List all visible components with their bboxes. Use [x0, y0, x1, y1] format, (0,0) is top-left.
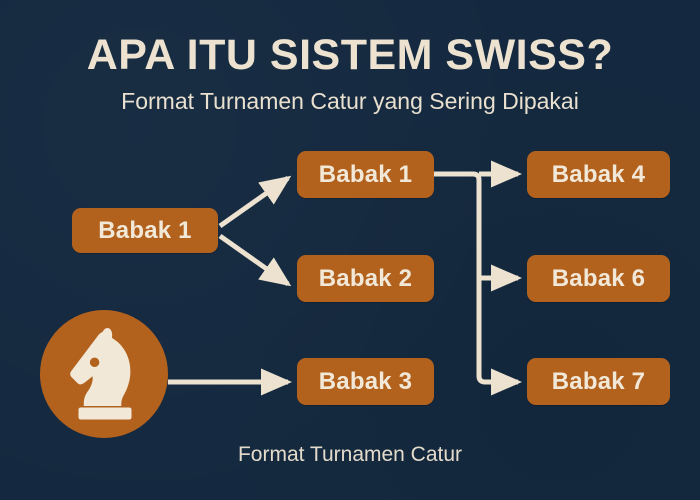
flow-node-out4[interactable]: Babak 4	[527, 151, 670, 198]
flow-node-root[interactable]: Babak 1	[72, 208, 218, 253]
flow-node-out7[interactable]: Babak 7	[527, 358, 670, 405]
chess-knight-icon	[58, 326, 150, 422]
chess-knight-badge	[40, 310, 168, 438]
flow-node-out6[interactable]: Babak 6	[527, 255, 670, 302]
edge-root-to-mid2	[220, 236, 288, 284]
flow-node-label: Babak 1	[98, 217, 191, 245]
flow-node-label: Babak 7	[552, 368, 645, 396]
flow-node-label: Babak 1	[319, 161, 412, 189]
flow-node-label: Babak 2	[319, 265, 412, 293]
flow-node-label: Babak 4	[552, 161, 645, 189]
flow-node-label: Babak 3	[319, 368, 412, 396]
flow-node-label: Babak 6	[552, 265, 645, 293]
flow-node-mid3[interactable]: Babak 3	[297, 358, 434, 405]
flow-node-mid1[interactable]: Babak 1	[297, 151, 434, 198]
footer-caption: Format Turnamen Catur	[0, 443, 700, 467]
infographic-canvas: APA ITU SISTEM SWISS? Format Turnamen Ca…	[0, 0, 700, 500]
flow-node-mid2[interactable]: Babak 2	[297, 255, 434, 302]
page-title: APA ITU SISTEM SWISS?	[0, 33, 700, 78]
edge-trunk-spine	[434, 174, 518, 382]
edge-root-to-mid1	[220, 178, 288, 226]
page-subtitle: Format Turnamen Catur yang Sering Dipaka…	[0, 88, 700, 114]
